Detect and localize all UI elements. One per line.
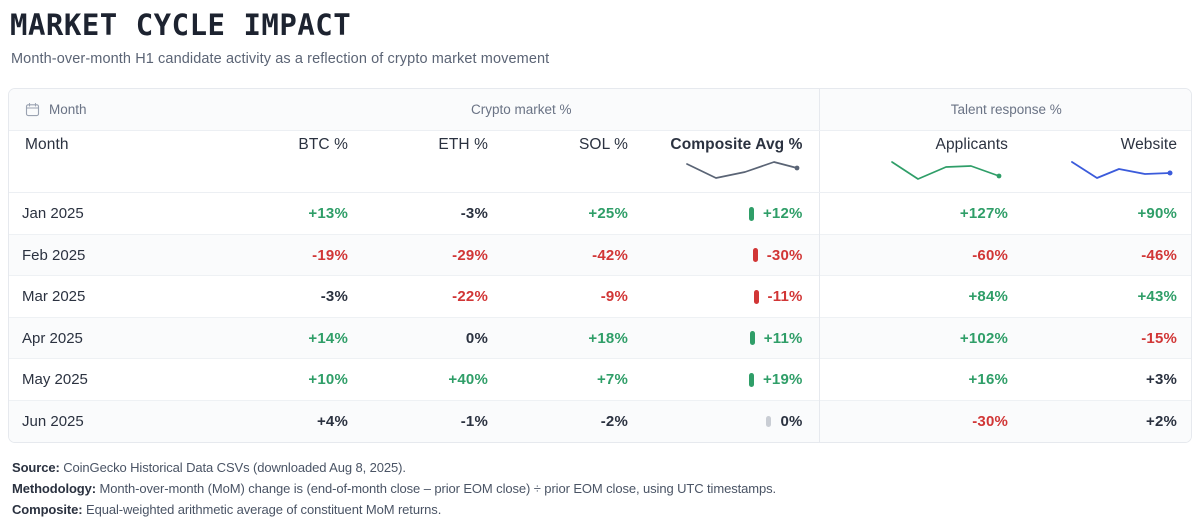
column-header-eth[interactable]: ETH % <box>364 131 504 193</box>
month-label: May 2025 <box>22 371 88 388</box>
website-value: +3% <box>1146 371 1177 388</box>
table-head: Month Crypto market % Talent response % … <box>9 89 1192 193</box>
page-subtitle: Month-over-month H1 candidate activity a… <box>8 51 1192 67</box>
btc-value: +4% <box>317 413 348 430</box>
cell-btc: +13% <box>224 193 364 235</box>
cell-applicants: +16% <box>819 359 1024 401</box>
composite-value: 0% <box>780 413 802 430</box>
btc-value: +10% <box>308 371 348 388</box>
footnote-text: Month-over-month (MoM) change is (end-of… <box>96 481 776 496</box>
footnote: Source: CoinGecko Historical Data CSVs (… <box>12 457 1192 478</box>
footnote: Composite: Equal-weighted arithmetic ave… <box>12 499 1192 520</box>
cell-btc: +4% <box>224 400 364 442</box>
cell-btc: -3% <box>224 276 364 318</box>
website-value: +2% <box>1146 413 1177 430</box>
cell-eth: -1% <box>364 400 504 442</box>
composite-bar <box>749 207 754 221</box>
composite-value: +12% <box>763 205 803 222</box>
month-label: Mar 2025 <box>22 288 85 305</box>
column-header-applicants[interactable]: Applicants <box>819 131 1024 193</box>
eth-value: -22% <box>452 288 488 305</box>
cell-composite: +11% <box>644 317 819 359</box>
cell-eth: -29% <box>364 234 504 276</box>
table-row: Apr 2025+14%0%+18% +11% +102%-15% <box>9 317 1192 359</box>
column-header-composite[interactable]: Composite Avg % <box>644 131 819 193</box>
cell-applicants: +102% <box>819 317 1024 359</box>
composite-sparkline <box>681 157 803 183</box>
footnotes: Source: CoinGecko Historical Data CSVs (… <box>8 457 1192 520</box>
applicants-value: +127% <box>960 205 1008 222</box>
month-label: Feb 2025 <box>22 247 85 264</box>
website-value: -46% <box>1141 247 1177 264</box>
sol-value: -2% <box>601 413 628 430</box>
cell-month: Jan 2025 <box>9 193 224 235</box>
cell-month: Mar 2025 <box>9 276 224 318</box>
composite-value: -30% <box>767 247 803 264</box>
applicants-value: +16% <box>968 371 1008 388</box>
sol-value: -42% <box>592 247 628 264</box>
column-header-row: Month BTC % ETH % SOL % Composite Avg % <box>9 131 1192 193</box>
applicants-value: -60% <box>972 247 1008 264</box>
cell-month: May 2025 <box>9 359 224 401</box>
website-value: +90% <box>1137 205 1177 222</box>
eth-value: 0% <box>466 330 488 347</box>
cell-composite: +12% <box>644 193 819 235</box>
sol-value: +18% <box>588 330 628 347</box>
eth-value: +40% <box>448 371 488 388</box>
page-title: MARKET CYCLE IMPACT <box>8 10 1192 42</box>
cell-sol: -42% <box>504 234 644 276</box>
column-header-month: Month <box>9 131 224 193</box>
composite-value: +11% <box>764 330 803 347</box>
cell-applicants: +84% <box>819 276 1024 318</box>
month-label: Apr 2025 <box>22 330 83 347</box>
table-row: May 2025+10%+40%+7% +19% +16%+3% <box>9 359 1192 401</box>
cell-website: +43% <box>1024 276 1192 318</box>
cell-eth: -3% <box>364 193 504 235</box>
cell-website: -46% <box>1024 234 1192 276</box>
composite-bar <box>766 416 771 427</box>
cell-applicants: +127% <box>819 193 1024 235</box>
month-label: Jan 2025 <box>22 205 84 222</box>
website-value: +43% <box>1137 288 1177 305</box>
composite-bar <box>754 290 759 304</box>
column-header-btc[interactable]: BTC % <box>224 131 364 193</box>
btc-value: +14% <box>308 330 348 347</box>
cell-sol: +7% <box>504 359 644 401</box>
cell-btc: +10% <box>224 359 364 401</box>
market-cycle-table: Month Crypto market % Talent response % … <box>8 88 1192 443</box>
cell-website: -15% <box>1024 317 1192 359</box>
cell-website: +3% <box>1024 359 1192 401</box>
footnote: Methodology: Month-over-month (MoM) chan… <box>12 478 1192 499</box>
table-row: Jun 2025+4%-1%-2% 0% -30%+2% <box>9 400 1192 442</box>
eth-value: -3% <box>461 205 488 222</box>
cell-website: +2% <box>1024 400 1192 442</box>
sol-value: -9% <box>601 288 628 305</box>
applicants-value: +84% <box>968 288 1008 305</box>
table-row: Feb 2025-19%-29%-42% -30% -60%-46% <box>9 234 1192 276</box>
composite-bar <box>753 248 758 262</box>
website-sparkline <box>1067 157 1177 183</box>
cell-eth: -22% <box>364 276 504 318</box>
table-row: Jan 2025+13%-3%+25% +12% +127%+90% <box>9 193 1192 235</box>
btc-value: +13% <box>308 205 348 222</box>
sol-value: +7% <box>597 371 628 388</box>
cell-month: Feb 2025 <box>9 234 224 276</box>
website-value: -15% <box>1141 330 1177 347</box>
cell-btc: +14% <box>224 317 364 359</box>
cell-eth: +40% <box>364 359 504 401</box>
eth-value: -29% <box>452 247 488 264</box>
cell-composite: +19% <box>644 359 819 401</box>
month-label: Jun 2025 <box>22 413 84 430</box>
group-header-crypto: Crypto market % <box>224 89 819 131</box>
btc-value: -3% <box>321 288 348 305</box>
composite-bar <box>750 331 755 345</box>
applicants-sparkline <box>886 157 1008 183</box>
cell-composite: -30% <box>644 234 819 276</box>
footnote-label: Composite: <box>12 502 83 517</box>
btc-value: -19% <box>312 247 348 264</box>
applicants-value: -30% <box>972 413 1008 430</box>
cell-month: Apr 2025 <box>9 317 224 359</box>
group-header-month: Month <box>9 89 224 131</box>
cell-composite: -11% <box>644 276 819 318</box>
composite-bar <box>749 373 754 387</box>
cell-sol: +18% <box>504 317 644 359</box>
table-body: Jan 2025+13%-3%+25% +12% +127%+90%Feb 20… <box>9 193 1192 442</box>
table-row: Mar 2025-3%-22%-9% -11% +84%+43% <box>9 276 1192 318</box>
sol-value: +25% <box>588 205 628 222</box>
footnote-text: CoinGecko Historical Data CSVs (download… <box>60 460 406 475</box>
composite-value: -11% <box>768 288 803 305</box>
group-header-row: Month Crypto market % Talent response % <box>9 89 1192 131</box>
column-header-website[interactable]: Website <box>1024 131 1192 193</box>
cell-eth: 0% <box>364 317 504 359</box>
cell-month: Jun 2025 <box>9 400 224 442</box>
cell-applicants: -60% <box>819 234 1024 276</box>
eth-value: -1% <box>461 413 488 430</box>
calendar-icon <box>25 102 40 117</box>
cell-composite: 0% <box>644 400 819 442</box>
cell-website: +90% <box>1024 193 1192 235</box>
footnote-text: Equal-weighted arithmetic average of con… <box>83 502 442 517</box>
column-header-sol[interactable]: SOL % <box>504 131 644 193</box>
composite-value: +19% <box>763 371 803 388</box>
footnote-label: Source: <box>12 460 60 475</box>
cell-sol: -9% <box>504 276 644 318</box>
cell-sol: -2% <box>504 400 644 442</box>
group-header-talent: Talent response % <box>819 89 1192 131</box>
data-table: Month Crypto market % Talent response % … <box>9 89 1192 442</box>
footnote-label: Methodology: <box>12 481 96 496</box>
cell-applicants: -30% <box>819 400 1024 442</box>
applicants-value: +102% <box>960 330 1008 347</box>
group-header-month-label: Month <box>49 102 87 117</box>
cell-sol: +25% <box>504 193 644 235</box>
page-root: MARKET CYCLE IMPACT Month-over-month H1 … <box>0 0 1200 520</box>
cell-btc: -19% <box>224 234 364 276</box>
